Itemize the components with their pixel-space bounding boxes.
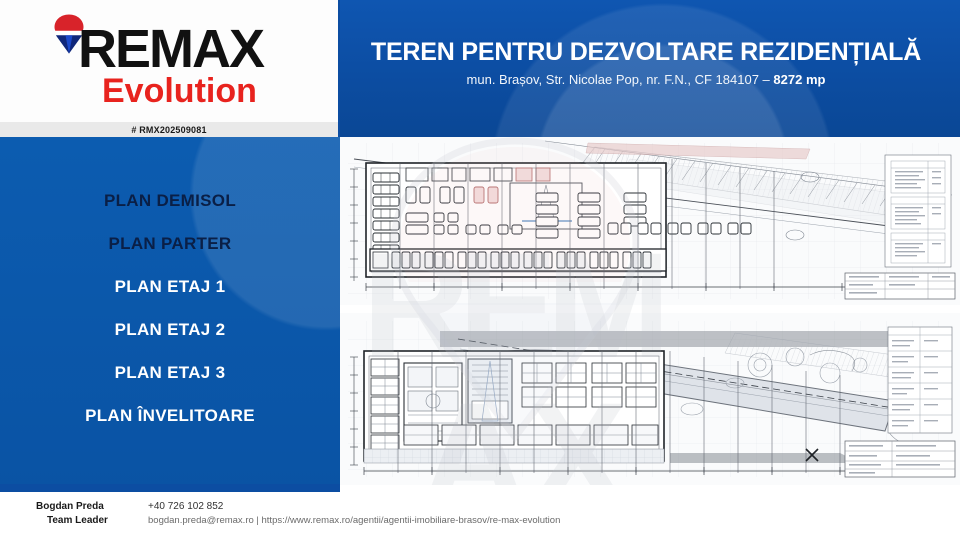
- floor-plan-viewer: R E M A X: [340, 137, 960, 485]
- agent-email-and-website[interactable]: bogdan.preda@remax.ro | https://www.rema…: [148, 515, 560, 526]
- agent-phone[interactable]: +40 726 102 852: [148, 501, 223, 512]
- listing-reference: # RMX202509081: [131, 125, 206, 135]
- brand-logo-panel: REMAX Evolution: [0, 0, 340, 122]
- page-title: TEREN PENTRU DEZVOLTARE REZIDENȚIALĂ: [340, 38, 952, 67]
- agent-role: Team Leader: [47, 515, 108, 526]
- sidebar-item-plan-parter[interactable]: PLAN PARTER: [0, 222, 340, 265]
- sidebar-item-plan-etaj-2[interactable]: PLAN ETAJ 2: [0, 308, 340, 351]
- sidebar-item-plan-etaj-3[interactable]: PLAN ETAJ 3: [0, 351, 340, 394]
- subtitle-area: 8272 mp: [773, 72, 825, 87]
- remax-logo: REMAX Evolution: [40, 8, 310, 116]
- sidebar-item-plan-invelitoare[interactable]: PLAN ÎNVELITOARE: [0, 394, 340, 437]
- plan-navigation-sidebar: PLAN DEMISOL PLAN PARTER PLAN ETAJ 1 PLA…: [0, 137, 340, 492]
- listing-slide: REMAX Evolution TEREN PENTRU DEZVOLTARE …: [0, 0, 960, 540]
- page-footer: Bogdan Preda Team Leader +40 726 102 852…: [0, 492, 960, 540]
- page-header: REMAX Evolution TEREN PENTRU DEZVOLTARE …: [0, 0, 960, 122]
- header-title-panel: TEREN PENTRU DEZVOLTARE REZIDENȚIALĂ mun…: [340, 0, 960, 137]
- sidebar-item-plan-etaj-1[interactable]: PLAN ETAJ 1: [0, 265, 340, 308]
- footer-accent-bar: [0, 484, 340, 492]
- subtitle-address: mun. Brașov, Str. Nicolae Pop, nr. F.N.,…: [467, 72, 774, 87]
- remax-wordmark: REMAX: [78, 22, 263, 76]
- property-location-subtitle: mun. Brașov, Str. Nicolae Pop, nr. F.N.,…: [340, 72, 952, 87]
- sidebar-item-plan-demisol[interactable]: PLAN DEMISOL: [0, 179, 340, 222]
- agent-name: Bogdan Preda: [36, 501, 104, 512]
- ground-floor-plan[interactable]: [340, 313, 960, 485]
- listing-reference-bar: # RMX202509081: [0, 122, 340, 137]
- evolution-wordmark: Evolution: [102, 74, 257, 108]
- basement-parking-plan[interactable]: [340, 137, 960, 305]
